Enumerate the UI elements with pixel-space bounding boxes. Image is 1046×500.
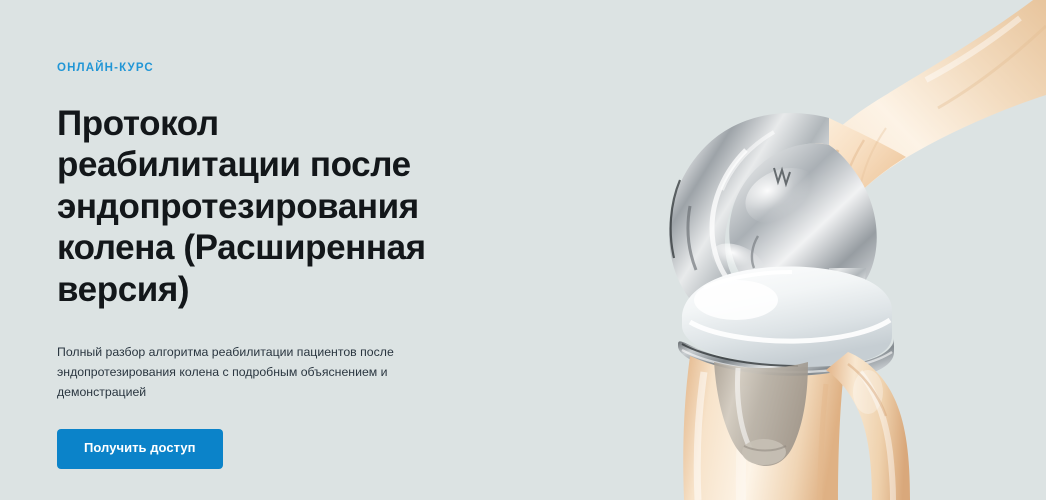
hero-section: ОНЛАЙН-КУРС Протокол реабилитации после … (0, 0, 1046, 500)
course-type-eyebrow: ОНЛАЙН-КУРС (57, 62, 477, 76)
get-access-button[interactable]: Получить доступ (57, 429, 223, 469)
page-title: Протокол реабилитации после эндопротезир… (57, 103, 452, 310)
hero-copy: ОНЛАЙН-КУРС Протокол реабилитации после … (57, 62, 477, 469)
hero-description: Полный разбор алгоритма реабилитации пац… (57, 343, 442, 403)
polyethylene-insert (682, 267, 892, 367)
knee-replacement-prosthesis-illustration (586, 0, 1046, 500)
